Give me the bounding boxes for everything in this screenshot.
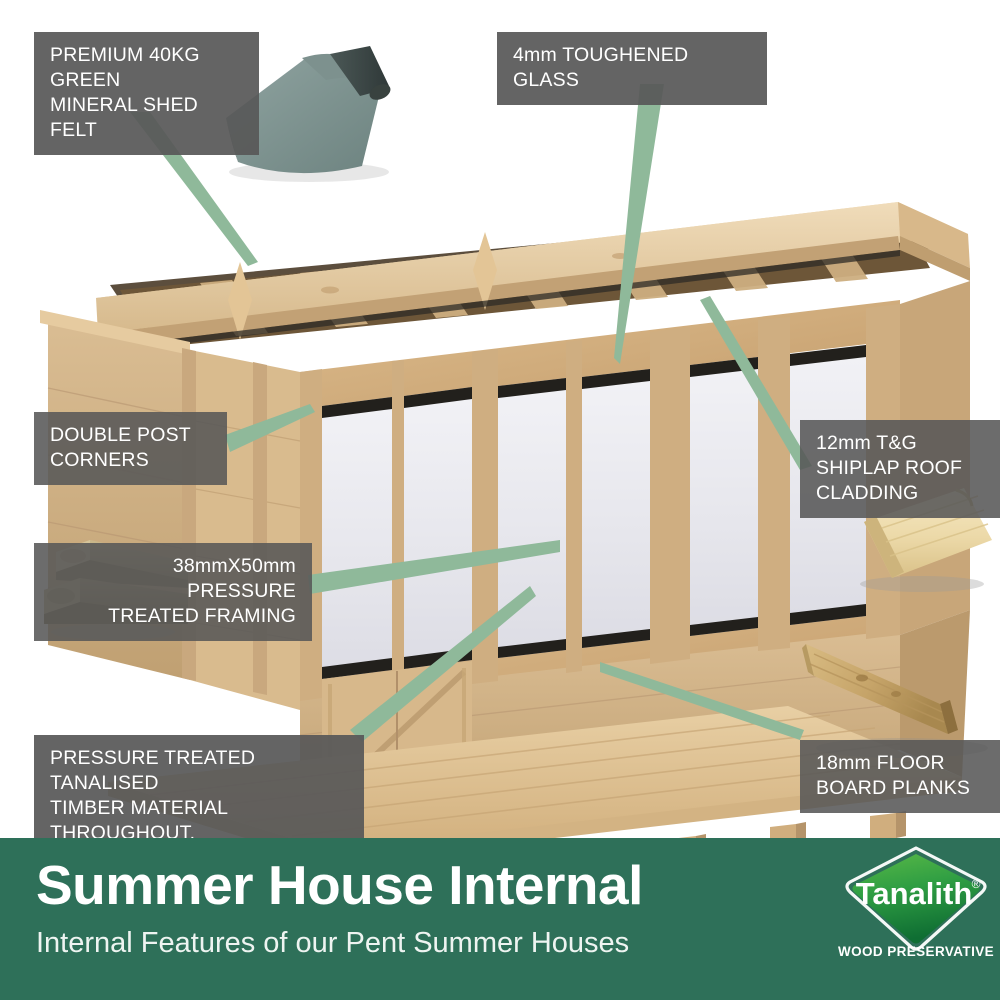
registered-mark-icon: ®: [972, 877, 981, 891]
tanalith-logo: Tanalith ®: [836, 842, 996, 982]
title-banner: Summer House Internal Internal Features …: [0, 838, 1000, 1000]
callout-double-post-corners: DOUBLE POST CORNERS: [34, 412, 227, 485]
callout-pressure-treated-framing: 38mmX50mm PRESSURE TREATED FRAMING: [34, 543, 312, 641]
callout-toughened-glass: 4mm TOUGHENED GLASS: [497, 32, 767, 105]
banner-subtitle: Internal Features of our Pent Summer Hou…: [36, 926, 629, 960]
callout-floor-board-planks: 18mm FLOOR BOARD PLANKS: [800, 740, 1000, 813]
banner-title: Summer House Internal: [36, 854, 643, 916]
tanalith-tagline: WOOD PRESERVATIVE: [836, 944, 996, 959]
infographic-canvas: PREMIUM 40KG GREEN MINERAL SHED FELT 4mm…: [0, 0, 1000, 1000]
callout-premium-felt: PREMIUM 40KG GREEN MINERAL SHED FELT: [34, 32, 259, 155]
tanalith-wordmark: Tanalith: [856, 876, 973, 911]
callout-shiplap-roof-cladding: 12mm T&G SHIPLAP ROOF CLADDING: [800, 420, 1000, 518]
